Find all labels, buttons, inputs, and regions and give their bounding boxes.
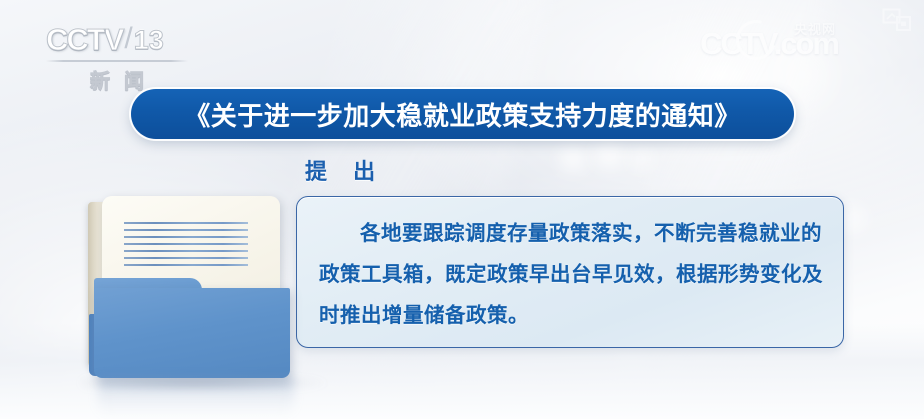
- broadcast-graphic-stage: CCTV / 13 新闻 CCTV.com 央视网 《关于进一步加大稳就业政策支…: [0, 0, 924, 419]
- document-text-line: [124, 243, 248, 245]
- background-bokeh-3: [630, 149, 652, 168]
- document-text-line: [124, 236, 248, 238]
- background-bokeh-6: [690, 350, 712, 366]
- background-bokeh-9: [430, 372, 550, 398]
- document-text-line: [124, 264, 248, 266]
- document-text-line: [124, 250, 248, 252]
- document-text-line: [124, 257, 248, 259]
- document-text-line: [124, 229, 248, 231]
- background-bokeh-1: [560, 148, 586, 170]
- watermark-ring-icon: [729, 13, 783, 67]
- logo-divider-rule: [46, 60, 188, 62]
- folder-front: [94, 288, 290, 378]
- watermark-site-suffix: .com: [774, 26, 838, 61]
- logo-slash-icon: /: [124, 22, 132, 56]
- lead-label: 提 出: [305, 154, 385, 186]
- illustration-reflection: [98, 378, 294, 418]
- document-text-line: [124, 222, 248, 224]
- logo-cctv-text: CCTV: [46, 22, 122, 58]
- logo-channel-number: 13: [134, 25, 164, 56]
- watermark-site-cn: 央视网: [794, 19, 836, 38]
- image-placeholder-icon: [882, 8, 912, 32]
- headline-banner: 《关于进一步加大稳就业政策支持力度的通知》: [131, 89, 794, 139]
- background-bokeh-4: [616, 352, 650, 374]
- logo-wordmark-row: CCTV / 13: [46, 22, 188, 58]
- content-paragraph: 各地要跟踪调度存量政策落实，不断完善稳就业的政策工具箱，既定政策早出台早见效，根…: [319, 213, 823, 336]
- document-folder-illustration: [88, 196, 294, 382]
- watermark-site-text: CCTV: [700, 26, 774, 61]
- background-bokeh-2: [594, 143, 624, 167]
- document-text-lines: [124, 222, 248, 266]
- headline-title: 《关于进一步加大稳就业政策支持力度的通知》: [184, 96, 741, 133]
- background-bokeh-5: [660, 356, 686, 374]
- cctv13-channel-logo: CCTV / 13 新闻: [46, 22, 188, 86]
- cctv-com-watermark: CCTV.com 央视网: [700, 26, 838, 62]
- content-box: 各地要跟踪调度存量政策落实，不断完善稳就业的政策工具箱，既定政策早出台早见效，根…: [296, 196, 844, 348]
